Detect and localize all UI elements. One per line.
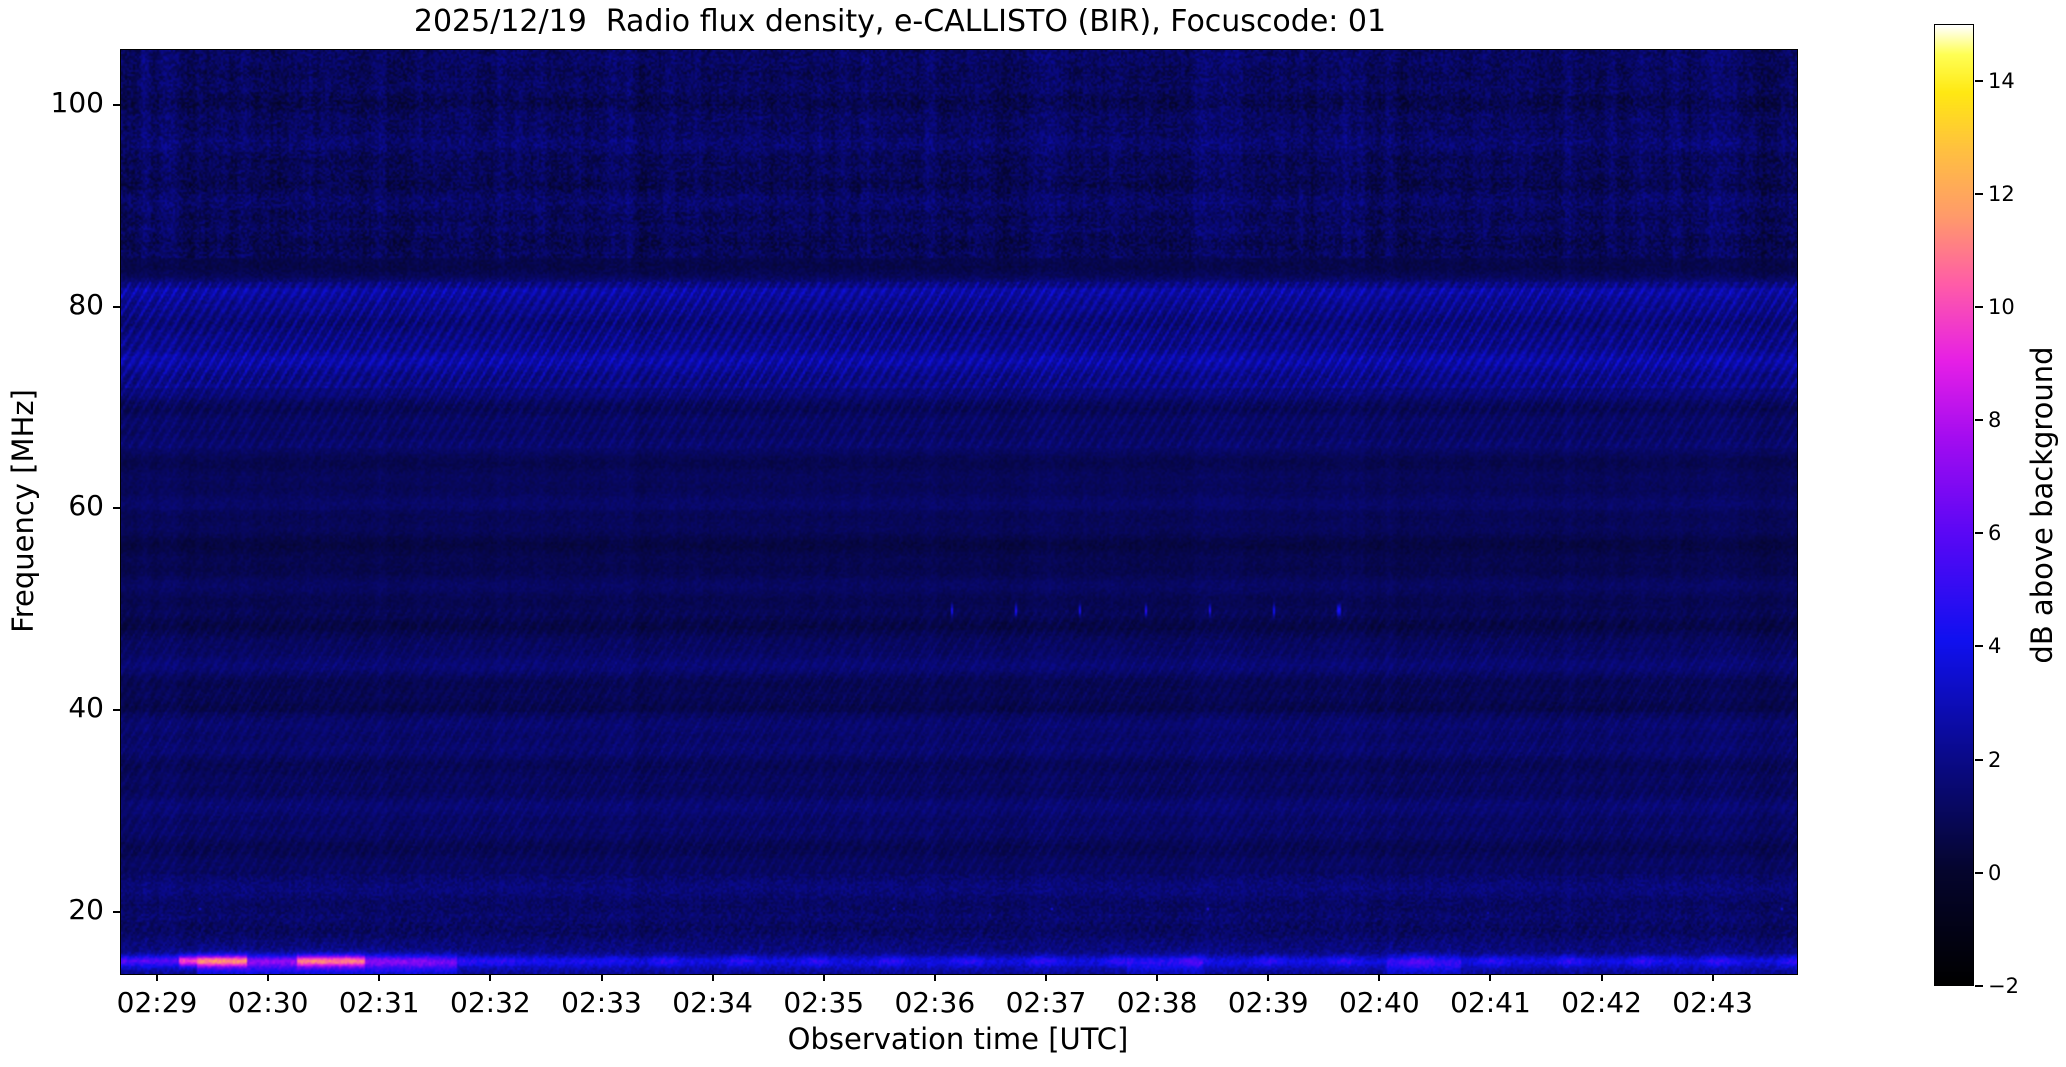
y-tick-mark xyxy=(113,507,120,509)
colorbar xyxy=(1934,24,1974,986)
y-tick-mark xyxy=(113,104,120,106)
x-tick-mark xyxy=(1378,974,1380,981)
colorbar-tick-label: 0 xyxy=(1988,861,2001,885)
colorbar-tick-mark xyxy=(1975,193,1983,195)
colorbar-tick-label: −2 xyxy=(1988,974,2019,998)
y-tick-label: 40 xyxy=(4,691,104,724)
y-tick-label: 100 xyxy=(4,86,104,119)
colorbar-gradient xyxy=(1934,24,1974,986)
x-tick-mark xyxy=(156,974,158,981)
x-axis-label: Observation time [UTC] xyxy=(120,1022,1796,1056)
colorbar-tick-mark xyxy=(1975,985,1983,987)
x-tick-mark xyxy=(1267,974,1269,981)
y-tick-label: 60 xyxy=(4,489,104,522)
figure-canvas: 2025/12/19 Radio flux density, e-CALLIST… xyxy=(0,0,2066,1067)
y-tick-mark xyxy=(113,306,120,308)
y-tick-mark xyxy=(113,709,120,711)
colorbar-tick-label: 8 xyxy=(1988,408,2001,432)
y-tick-mark xyxy=(113,911,120,913)
colorbar-tick-label: 2 xyxy=(1988,748,2001,772)
x-tick-mark xyxy=(1601,974,1603,981)
colorbar-tick-label: 4 xyxy=(1988,634,2001,658)
colorbar-tick-mark xyxy=(1975,532,1983,534)
x-tick-mark xyxy=(1156,974,1158,981)
spectrogram-image xyxy=(121,50,1797,974)
colorbar-tick-label: 14 xyxy=(1988,69,2015,93)
x-tick-mark xyxy=(1712,974,1714,981)
colorbar-tick-label: 10 xyxy=(1988,295,2015,319)
colorbar-label: dB above background xyxy=(2020,24,2064,986)
x-tick-mark xyxy=(601,974,603,981)
colorbar-tick-mark xyxy=(1975,306,1983,308)
colorbar-tick-mark xyxy=(1975,759,1983,761)
colorbar-label-text: dB above background xyxy=(2025,346,2059,663)
x-tick-mark xyxy=(823,974,825,981)
colorbar-tick-label: 6 xyxy=(1988,521,2001,545)
x-tick-mark xyxy=(1045,974,1047,981)
colorbar-tick-mark xyxy=(1975,872,1983,874)
x-tick-mark xyxy=(267,974,269,981)
x-tick-mark xyxy=(712,974,714,981)
colorbar-tick-label: 12 xyxy=(1988,182,2015,206)
x-tick-mark xyxy=(489,974,491,981)
y-tick-label: 20 xyxy=(4,893,104,926)
page-title: 2025/12/19 Radio flux density, e-CALLIST… xyxy=(0,4,1800,39)
colorbar-tick-mark xyxy=(1975,645,1983,647)
colorbar-tick-mark xyxy=(1975,419,1983,421)
x-tick-label: 02:43 xyxy=(1633,986,1793,1019)
x-tick-mark xyxy=(934,974,936,981)
x-tick-mark xyxy=(1489,974,1491,981)
colorbar-tick-mark xyxy=(1975,80,1983,82)
x-tick-mark xyxy=(378,974,380,981)
y-tick-label: 80 xyxy=(4,288,104,321)
spectrogram-axes xyxy=(120,49,1798,975)
